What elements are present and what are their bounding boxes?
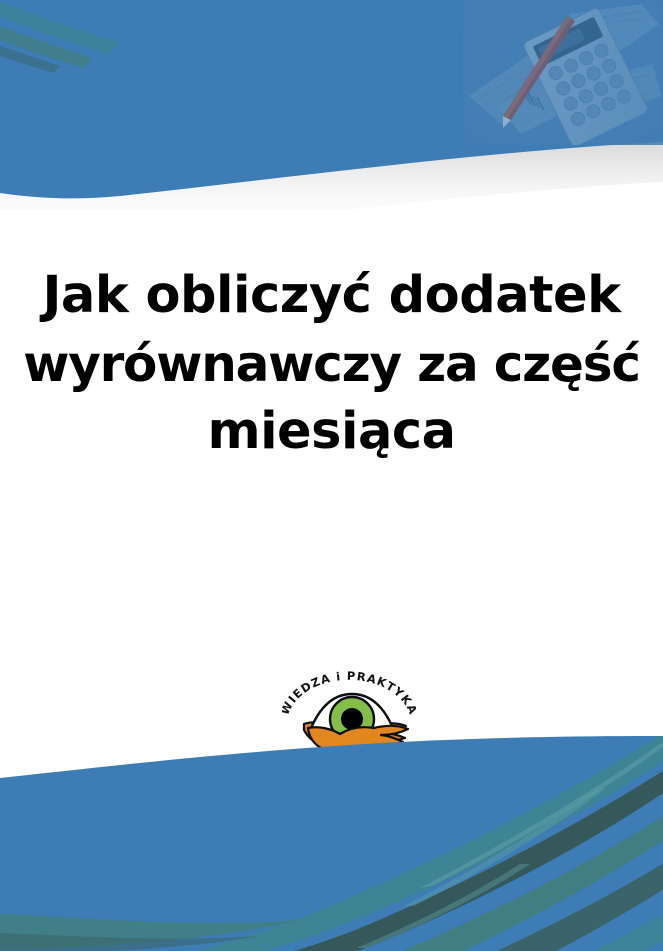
- page-title: Jak obliczyć dodatek wyrównawczy za częś…: [0, 262, 663, 466]
- title-line-3: miesiąca: [0, 398, 663, 466]
- bottom-blue-wave: [0, 736, 663, 951]
- title-line-1: Jak obliczyć dodatek: [0, 262, 663, 330]
- calculator-pen-documents-photo: [463, 0, 663, 145]
- title-line-2: wyrównawczy za część: [0, 330, 663, 398]
- cover-page: Jak obliczyć dodatek wyrównawczy za częś…: [0, 0, 663, 951]
